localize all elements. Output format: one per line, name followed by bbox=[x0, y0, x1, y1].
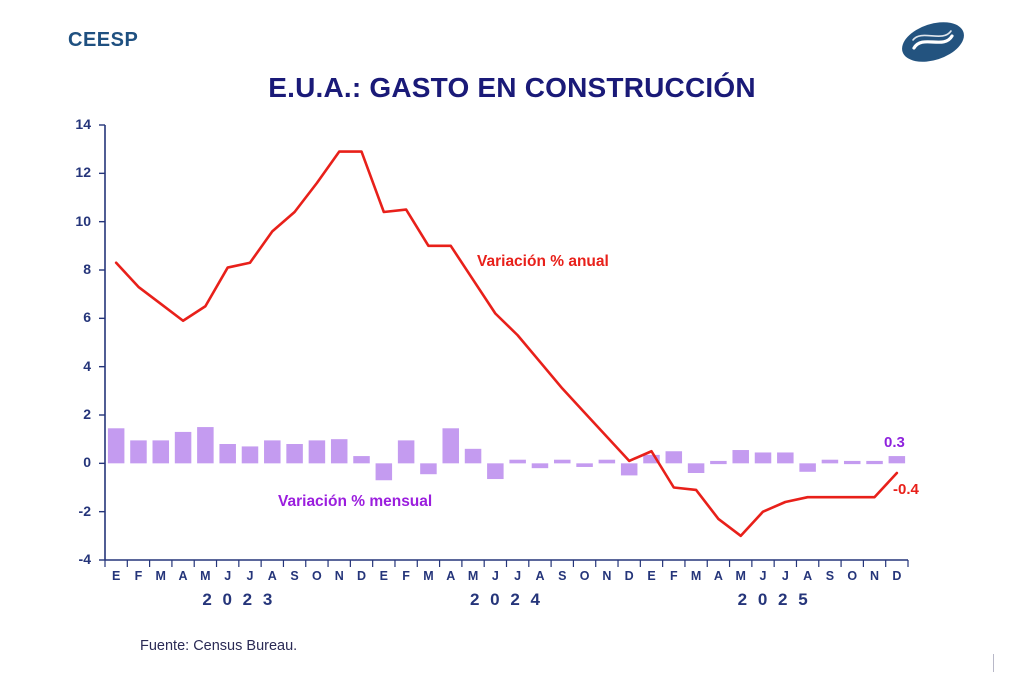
y-axis-tick-label: 12 bbox=[57, 164, 91, 180]
legend-label-monthly: Variación % mensual bbox=[278, 493, 432, 511]
x-axis-month-label: M bbox=[194, 569, 216, 583]
x-axis-month-label: J bbox=[774, 569, 796, 583]
x-axis-month-label: E bbox=[640, 569, 662, 583]
bar-monthly-29 bbox=[755, 452, 772, 463]
x-axis-year-label: 2 0 2 5 bbox=[714, 590, 834, 610]
bar-monthly-1 bbox=[130, 440, 147, 463]
y-axis-tick-label: -2 bbox=[57, 503, 91, 519]
data-label-last-line: -0.4 bbox=[893, 481, 919, 498]
bar-monthly-33 bbox=[844, 461, 861, 464]
line-annual-variation bbox=[116, 152, 897, 536]
bar-monthly-5 bbox=[219, 444, 236, 463]
x-axis-month-label: D bbox=[618, 569, 640, 583]
x-axis-month-label: J bbox=[507, 569, 529, 583]
bar-monthly-26 bbox=[688, 463, 705, 473]
bar-monthly-6 bbox=[242, 446, 259, 463]
x-axis-month-label: N bbox=[864, 569, 886, 583]
y-axis-tick-label: 2 bbox=[57, 406, 91, 422]
x-axis-month-label: N bbox=[328, 569, 350, 583]
bar-monthly-17 bbox=[487, 463, 504, 479]
x-axis-month-label: O bbox=[306, 569, 328, 583]
bar-monthly-15 bbox=[442, 428, 459, 463]
source-note: Fuente: Census Bureau. bbox=[140, 638, 297, 654]
legend-label-annual: Variación % anual bbox=[477, 253, 609, 271]
x-axis-month-label: S bbox=[284, 569, 306, 583]
x-axis-month-label: A bbox=[707, 569, 729, 583]
bar-monthly-23 bbox=[621, 463, 638, 475]
x-axis-month-label: J bbox=[239, 569, 261, 583]
y-axis-tick-label: 6 bbox=[57, 309, 91, 325]
x-axis-month-label: N bbox=[596, 569, 618, 583]
x-axis-month-label: F bbox=[127, 569, 149, 583]
bar-monthly-31 bbox=[799, 463, 816, 471]
x-axis-month-label: A bbox=[440, 569, 462, 583]
bar-monthly-3 bbox=[175, 432, 192, 463]
bar-monthly-21 bbox=[576, 463, 593, 467]
bar-monthly-14 bbox=[420, 463, 437, 474]
bar-monthly-10 bbox=[331, 439, 348, 463]
x-axis-month-label: O bbox=[841, 569, 863, 583]
bar-monthly-11 bbox=[353, 456, 370, 463]
slide-canvas: CEESP E.U.A.: GASTO EN CONSTRUCCIÓN Vari… bbox=[0, 0, 1024, 680]
bar-monthly-35 bbox=[889, 456, 906, 463]
bar-monthly-28 bbox=[732, 450, 749, 463]
x-axis-month-label: M bbox=[417, 569, 439, 583]
bar-monthly-9 bbox=[309, 440, 326, 463]
x-axis-month-label: D bbox=[886, 569, 908, 583]
bar-monthly-30 bbox=[777, 452, 794, 463]
x-axis-month-label: E bbox=[373, 569, 395, 583]
bar-monthly-16 bbox=[465, 449, 482, 464]
x-axis-month-label: M bbox=[730, 569, 752, 583]
x-axis-month-label: J bbox=[484, 569, 506, 583]
x-axis-month-label: F bbox=[663, 569, 685, 583]
x-axis-month-label: S bbox=[819, 569, 841, 583]
x-axis-month-label: D bbox=[351, 569, 373, 583]
x-axis-month-label: E bbox=[105, 569, 127, 583]
x-axis-month-label: O bbox=[574, 569, 596, 583]
x-axis-month-label: A bbox=[261, 569, 283, 583]
y-axis-tick-label: 10 bbox=[57, 213, 91, 229]
y-axis-tick-label: -4 bbox=[57, 551, 91, 567]
bar-monthly-0 bbox=[108, 428, 125, 463]
x-axis-year-label: 2 0 2 3 bbox=[179, 590, 299, 610]
bar-monthly-13 bbox=[398, 440, 415, 463]
y-axis-tick-label: 8 bbox=[57, 261, 91, 277]
y-axis-tick-label: 0 bbox=[57, 454, 91, 470]
x-axis-month-label: F bbox=[395, 569, 417, 583]
bar-monthly-18 bbox=[509, 460, 526, 464]
bar-monthly-4 bbox=[197, 427, 214, 463]
bar-monthly-7 bbox=[264, 440, 281, 463]
bar-monthly-34 bbox=[866, 461, 883, 464]
bar-monthly-27 bbox=[710, 461, 727, 464]
x-axis-month-label: M bbox=[685, 569, 707, 583]
bar-monthly-25 bbox=[666, 451, 683, 463]
x-axis-month-label: A bbox=[797, 569, 819, 583]
footer-corner-rule bbox=[993, 654, 1016, 672]
x-axis-month-label: A bbox=[529, 569, 551, 583]
y-axis-tick-label: 4 bbox=[57, 358, 91, 374]
x-axis-month-label: A bbox=[172, 569, 194, 583]
x-axis-month-label: S bbox=[551, 569, 573, 583]
bar-monthly-19 bbox=[532, 463, 549, 468]
x-axis-month-label: J bbox=[217, 569, 239, 583]
bar-monthly-22 bbox=[599, 460, 616, 464]
bar-monthly-2 bbox=[153, 440, 170, 463]
bar-monthly-12 bbox=[376, 463, 393, 480]
x-axis-month-label: M bbox=[150, 569, 172, 583]
bar-monthly-32 bbox=[822, 460, 839, 464]
x-axis-month-label: M bbox=[462, 569, 484, 583]
bar-monthly-8 bbox=[286, 444, 303, 463]
y-axis-tick-label: 14 bbox=[57, 116, 91, 132]
bar-monthly-20 bbox=[554, 460, 571, 464]
data-label-last-bar: 0.3 bbox=[884, 434, 905, 451]
x-axis-year-label: 2 0 2 4 bbox=[447, 590, 567, 610]
x-axis-month-label: J bbox=[752, 569, 774, 583]
